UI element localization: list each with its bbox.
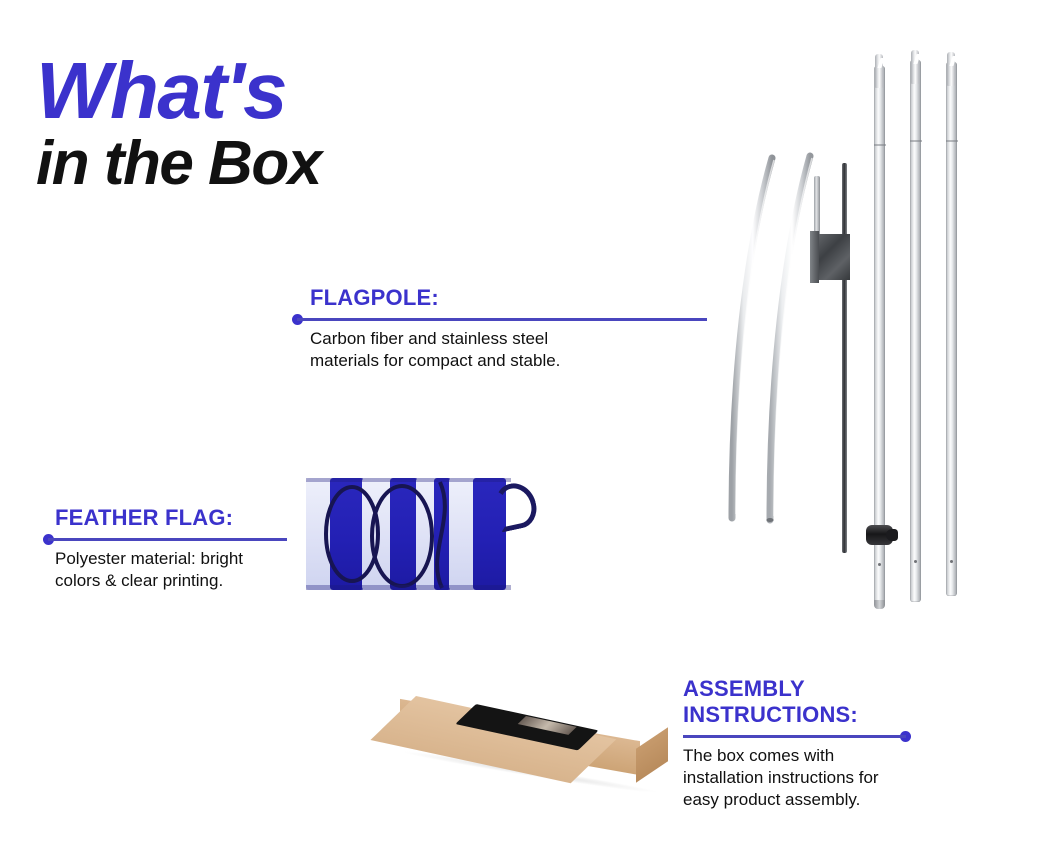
box-side-face bbox=[636, 727, 668, 783]
callout-rule-line bbox=[683, 735, 906, 738]
callout-assembly-instructions-rule bbox=[683, 731, 911, 742]
aluminum-pole-segment bbox=[946, 62, 957, 596]
callout-assembly-instructions: ASSEMBLY INSTRUCTIONS: The box comes wit… bbox=[683, 676, 911, 811]
page-title: What's in the Box bbox=[36, 52, 556, 195]
callout-feather-flag-rule bbox=[43, 534, 287, 545]
packaging-box-image bbox=[398, 694, 688, 790]
callout-feather-flag: FEATHER FLAG: Polyester material: bright… bbox=[43, 505, 287, 592]
callout-rule-line bbox=[297, 318, 707, 321]
bracket-support-rod bbox=[842, 163, 847, 553]
callout-rule-line bbox=[48, 538, 287, 541]
page-title-line-2: in the Box bbox=[36, 134, 556, 195]
flag-print-pattern bbox=[306, 478, 511, 590]
callout-flagpole: FLAGPOLE: Carbon fiber and stainless ste… bbox=[292, 285, 707, 372]
feather-flag-image bbox=[306, 478, 511, 590]
callout-assembly-instructions-body: The box comes with installation instruct… bbox=[683, 745, 911, 811]
pole-seam-ring bbox=[874, 144, 886, 146]
pole-pin-hole bbox=[950, 560, 953, 563]
callout-assembly-instructions-heading: ASSEMBLY INSTRUCTIONS: bbox=[683, 676, 911, 728]
pole-seam-ring bbox=[946, 140, 958, 142]
callout-feather-flag-body: Polyester material: bright colors & clea… bbox=[43, 548, 287, 592]
pole-end-cap bbox=[874, 600, 885, 609]
collar-lever bbox=[886, 529, 898, 541]
callout-flagpole-rule bbox=[292, 314, 707, 325]
infographic-canvas: What's in the Box bbox=[0, 0, 1050, 850]
flagpole-parts-image bbox=[718, 48, 968, 608]
pole-pin-hole bbox=[914, 560, 917, 563]
pole-seam-ring bbox=[910, 140, 922, 142]
callout-feather-flag-heading: FEATHER FLAG: bbox=[43, 505, 287, 531]
callout-flagpole-heading: FLAGPOLE: bbox=[292, 285, 707, 311]
bracket-upper-pin bbox=[814, 176, 820, 238]
callout-flagpole-body: Carbon fiber and stainless steel materia… bbox=[292, 328, 707, 372]
page-title-line-1: What's bbox=[36, 52, 556, 130]
pole-pin-hole bbox=[878, 563, 881, 566]
bracket-side-plate bbox=[810, 231, 819, 283]
